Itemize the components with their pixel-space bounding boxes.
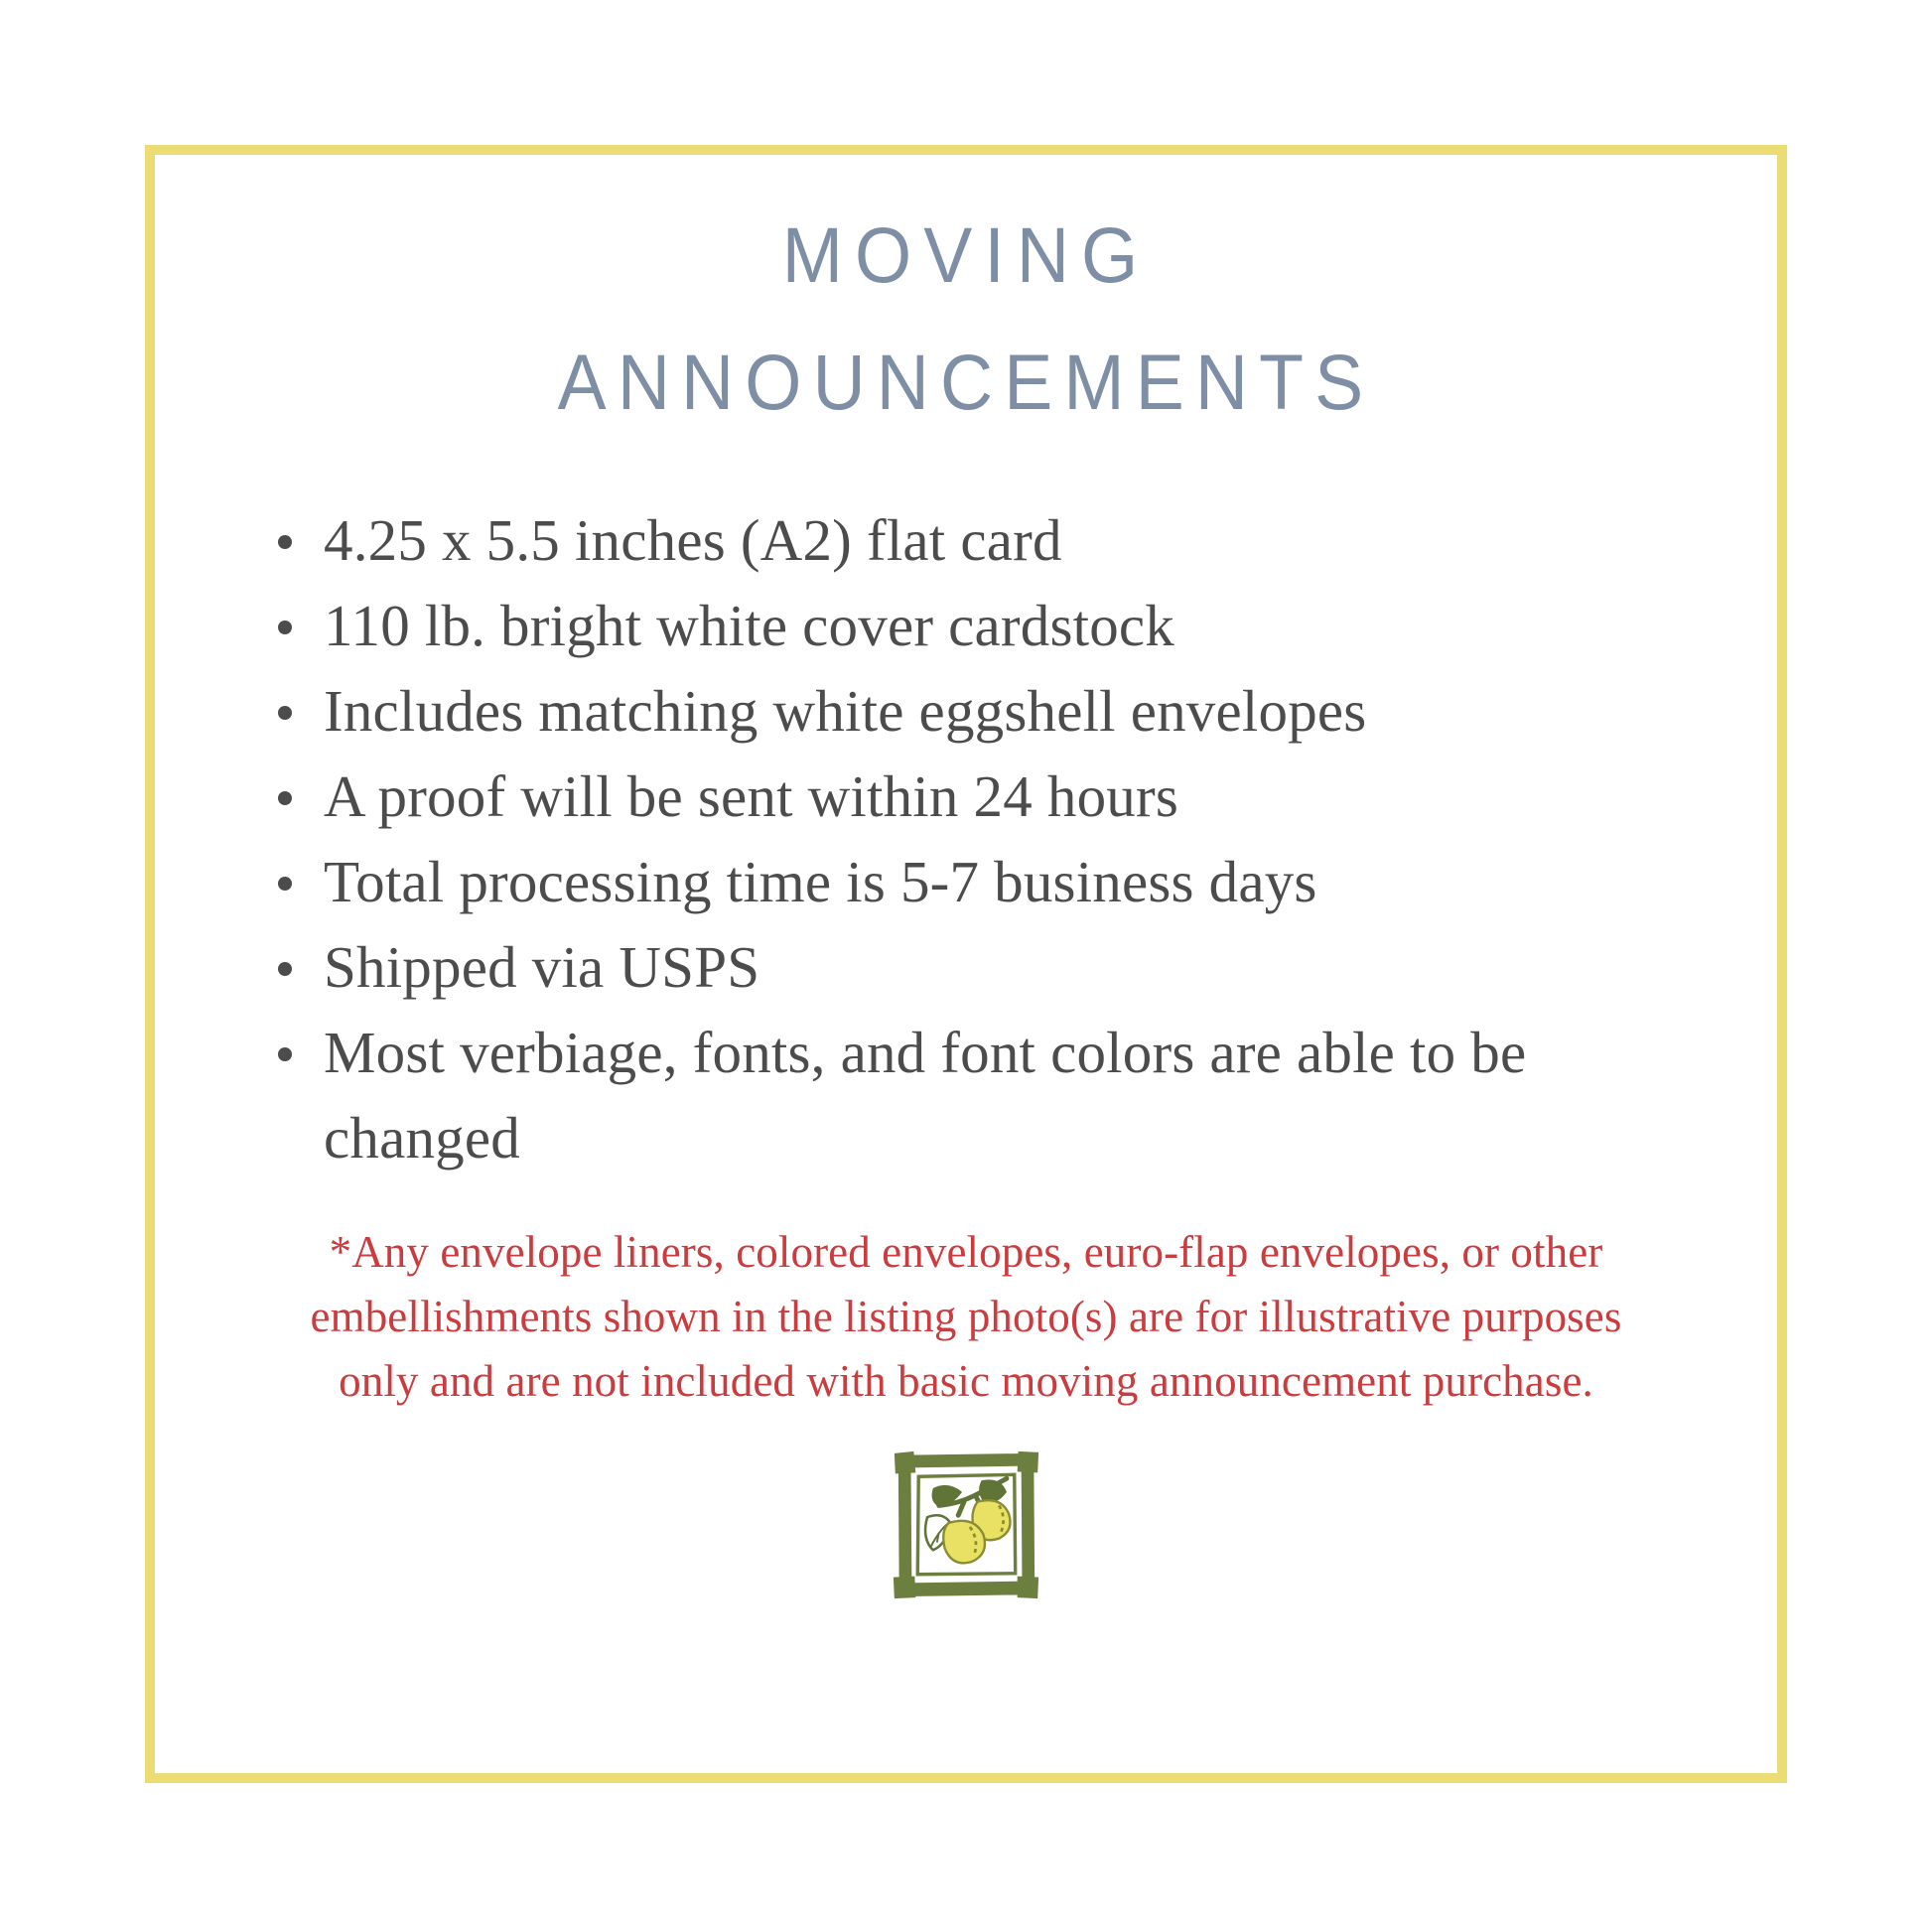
lemon-branch-icon xyxy=(889,1448,1043,1602)
list-item: 4.25 x 5.5 inches (A2) flat card xyxy=(272,497,1718,583)
bullet-dot-icon xyxy=(278,535,292,549)
list-item-label: Shipped via USPS xyxy=(324,934,759,1000)
list-item: Shipped via USPS xyxy=(272,924,1718,1010)
yellow-border-frame: Moving Announcements 4.25 x 5.5 inches (… xyxy=(145,145,1787,1783)
list-item-label: 110 lb. bright white cover cardstock xyxy=(324,593,1174,658)
brand-logo-container xyxy=(155,1448,1777,1607)
bullet-dot-icon xyxy=(278,791,292,805)
disclaimer-text: *Any envelope liners, colored envelopes,… xyxy=(197,1220,1735,1414)
list-item: Includes matching white eggshell envelop… xyxy=(272,668,1718,754)
list-item: Most verbiage, fonts, and font colors ar… xyxy=(272,1010,1718,1180)
title-line-1: Moving xyxy=(211,181,1721,308)
bullet-dot-icon xyxy=(278,621,292,634)
bullet-dot-icon xyxy=(278,877,292,891)
list-item-label: Includes matching white eggshell envelop… xyxy=(324,678,1366,744)
card-canvas: Moving Announcements 4.25 x 5.5 inches (… xyxy=(0,0,1932,1932)
bullet-dot-icon xyxy=(278,962,292,976)
list-item-label: Total processing time is 5-7 business da… xyxy=(324,849,1317,914)
bullet-dot-icon xyxy=(278,1047,292,1061)
page-title: Moving Announcements xyxy=(155,155,1777,434)
list-item-label: A proof will be sent within 24 hours xyxy=(324,763,1178,829)
product-details-list: 4.25 x 5.5 inches (A2) flat card 110 lb.… xyxy=(272,497,1718,1180)
list-item: Total processing time is 5-7 business da… xyxy=(272,839,1718,924)
list-item: 110 lb. bright white cover cardstock xyxy=(272,583,1718,668)
disclaimer-line-2: embellishments shown in the listing phot… xyxy=(197,1285,1735,1349)
list-item-label: Most verbiage, fonts, and font colors ar… xyxy=(324,1020,1526,1171)
card-inner-content: Moving Announcements 4.25 x 5.5 inches (… xyxy=(155,155,1777,1773)
title-line-2: Announcements xyxy=(211,308,1721,435)
bullet-dot-icon xyxy=(278,706,292,720)
list-item: A proof will be sent within 24 hours xyxy=(272,754,1718,839)
disclaimer-line-3: only and are not included with basic mov… xyxy=(197,1349,1735,1414)
list-item-label: 4.25 x 5.5 inches (A2) flat card xyxy=(324,507,1062,573)
disclaimer-line-1: *Any envelope liners, colored envelopes,… xyxy=(197,1220,1735,1285)
